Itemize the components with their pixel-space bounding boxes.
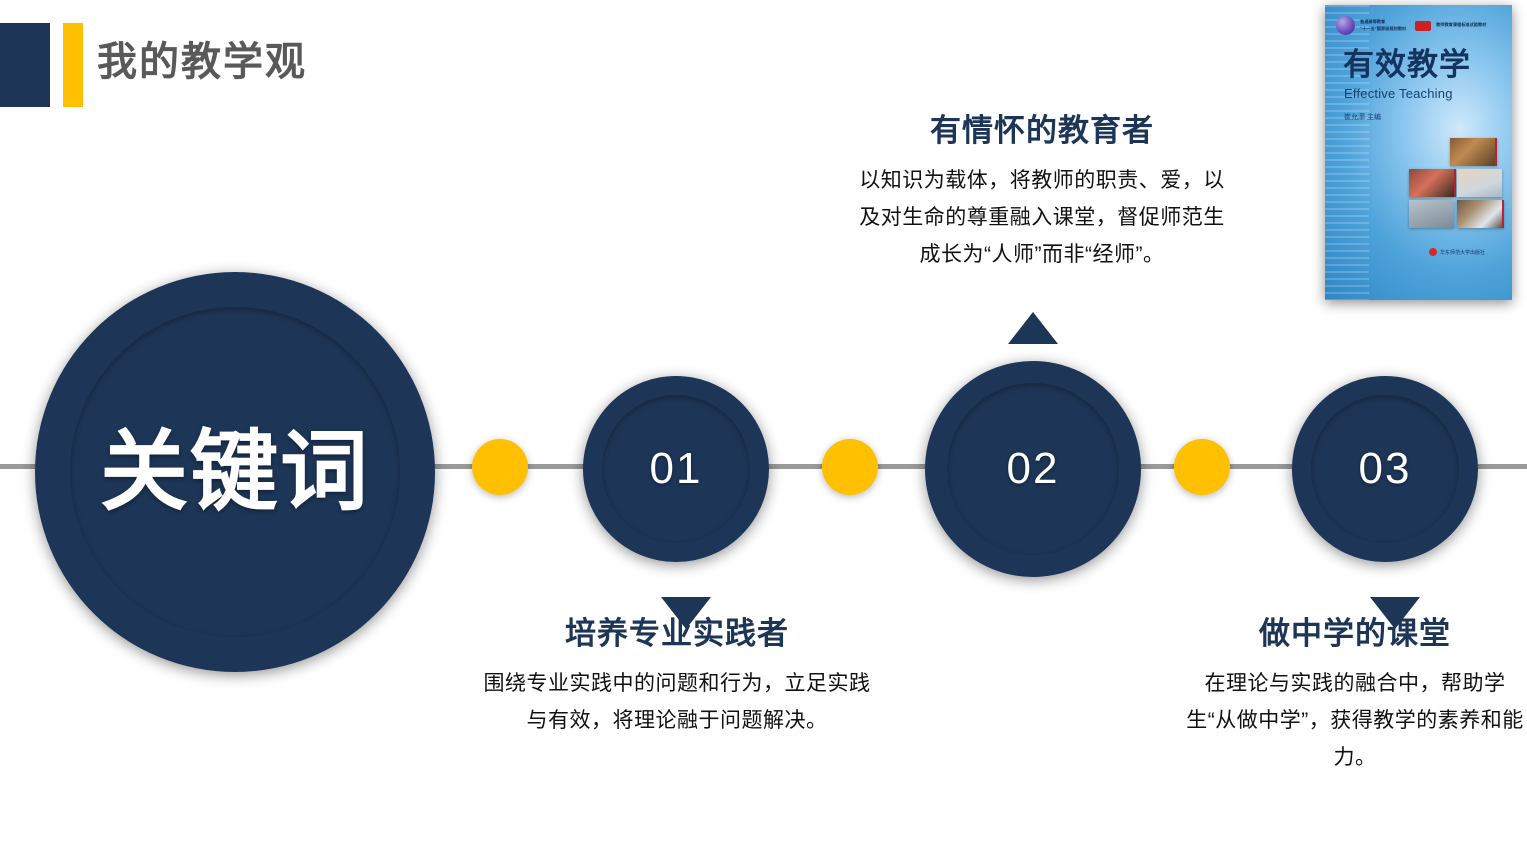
book-badge-text-right: 教师教育课程标准试验教材	[1436, 22, 1486, 28]
page-title: 我的教学观	[97, 40, 307, 84]
book-cover-badges: 普通高等教育 “十一五”国家级规划教材 教师教育课程标准试验教材	[1336, 16, 1506, 35]
book-photo-2	[1409, 169, 1456, 197]
book-author: 崔允漷 主编	[1344, 112, 1381, 122]
book-cover-photo-grid	[1409, 138, 1505, 228]
step-heading-02: 有情怀的教育者	[852, 112, 1232, 149]
globe-emblem-icon	[1336, 16, 1355, 35]
book-photo-5	[1457, 200, 1504, 228]
book-cover-image: 普通高等教育 “十一五”国家级规划教材 教师教育课程标准试验教材 有效教学 Ef…	[1325, 5, 1512, 300]
title-accent-bar	[63, 23, 83, 107]
step-circle-03-inner: 03	[1311, 395, 1459, 543]
book-photo-1	[1450, 138, 1497, 166]
book-badge-line-2: “十一五”国家级规划教材	[1360, 26, 1406, 32]
step-body-01: 围绕专业实践中的问题和行为，立足实践与有效，将理论融于问题解决。	[482, 666, 872, 740]
timeline-dot-1	[472, 439, 528, 495]
book-title: 有效教学	[1343, 49, 1471, 80]
step-circle-01: 01	[583, 376, 769, 562]
timeline-dot-3	[1174, 439, 1230, 495]
step-number-03: 03	[1359, 447, 1412, 491]
step-number-01: 01	[650, 447, 703, 491]
step-circle-02: 02	[925, 361, 1141, 577]
step-heading-01: 培养专业实践者	[482, 615, 872, 652]
keyword-circle: 关键词	[35, 272, 435, 672]
publisher-logo-icon	[1429, 248, 1437, 256]
step-text-block-03: 做中学的课堂 在理论与实践的融合中，帮助学生“从做中学”，获得教学的素养和能力。	[1185, 615, 1525, 776]
step-circle-03: 03	[1292, 376, 1478, 562]
red-seal-icon	[1415, 21, 1431, 31]
book-publisher-name: 华东师范大学出版社	[1440, 249, 1485, 256]
step-heading-03: 做中学的课堂	[1185, 615, 1525, 652]
timeline-dot-2	[822, 439, 878, 495]
step-text-block-02: 有情怀的教育者 以知识为载体，将教师的职责、爱，以及对生命的尊重融入课堂，督促师…	[852, 112, 1232, 273]
step-text-block-01: 培养专业实践者 围绕专业实践中的问题和行为，立足实践与有效，将理论融于问题解决。	[482, 615, 872, 740]
step-body-02: 以知识为载体，将教师的职责、爱，以及对生命的尊重融入课堂，督促师范生成长为“人师…	[852, 163, 1232, 273]
step-number-02: 02	[1007, 447, 1060, 491]
keyword-circle-inner: 关键词	[70, 307, 400, 637]
step-circle-01-inner: 01	[602, 395, 750, 543]
book-badge-text-left: 普通高等教育 “十一五”国家级规划教材	[1360, 19, 1406, 32]
book-photo-3	[1457, 169, 1502, 197]
keyword-label: 关键词	[100, 428, 370, 516]
step-body-03: 在理论与实践的融合中，帮助学生“从做中学”，获得教学的素养和能力。	[1185, 666, 1525, 776]
title-accent-block	[0, 23, 50, 107]
triangle-up-icon-02	[1008, 312, 1058, 344]
book-publisher-row: 华东师范大学出版社	[1429, 248, 1485, 256]
slide-canvas: 我的教学观 关键词 01 02 03 培养专业实践者 围绕专业实践中的问题和行为…	[0, 0, 1527, 854]
book-photo-4	[1409, 200, 1454, 228]
step-circle-02-inner: 02	[947, 383, 1119, 555]
book-subtitle: Effective Teaching	[1344, 86, 1453, 101]
